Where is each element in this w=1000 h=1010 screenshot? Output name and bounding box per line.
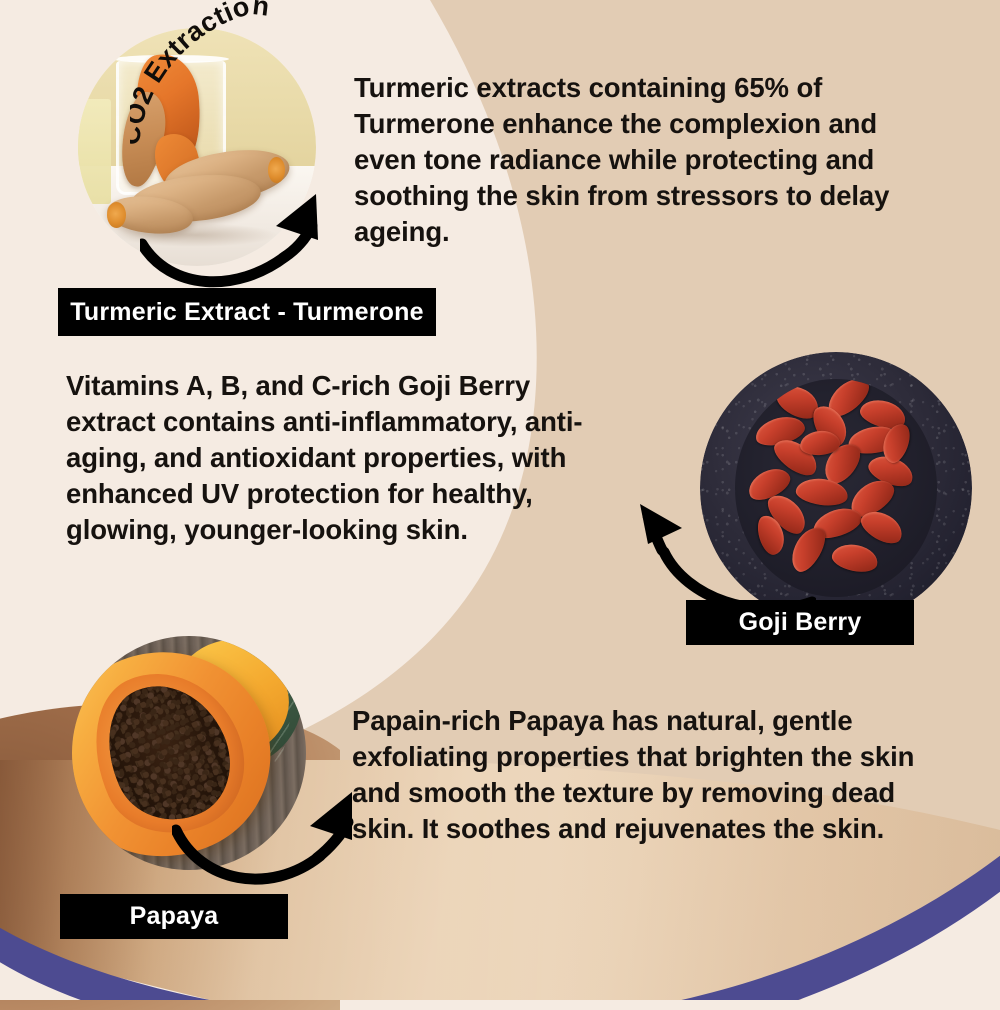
curved-arrow-up-right-icon [172,786,372,906]
turmeric-label-badge: Turmeric Extract - Turmerone [58,288,436,336]
turmeric-description: Turmeric extracts containing 65% of Turm… [354,70,924,250]
goji-label-text: Goji Berry [739,608,862,637]
turmeric-root-cut-face [107,202,126,228]
turmeric-label-text: Turmeric Extract - Turmerone [70,298,423,327]
papaya-label-badge: Papaya [60,894,288,939]
goji-label-badge: Goji Berry [686,600,914,645]
curved-arrow-up-right-icon [140,186,360,301]
infographic-canvas: CO2 Extraction Turmeric Extract - Turmer… [0,0,1000,1000]
goji-berry [830,540,881,575]
goji-description: Vitamins A, B, and C-rich Goji Berry ext… [66,368,606,548]
co2-extraction-label: CO2 Extraction [130,0,271,147]
oil-bottle-shape [78,99,111,204]
papaya-label-text: Papaya [130,902,219,931]
papaya-description: Papain-rich Papaya has natural, gentle e… [352,703,952,847]
